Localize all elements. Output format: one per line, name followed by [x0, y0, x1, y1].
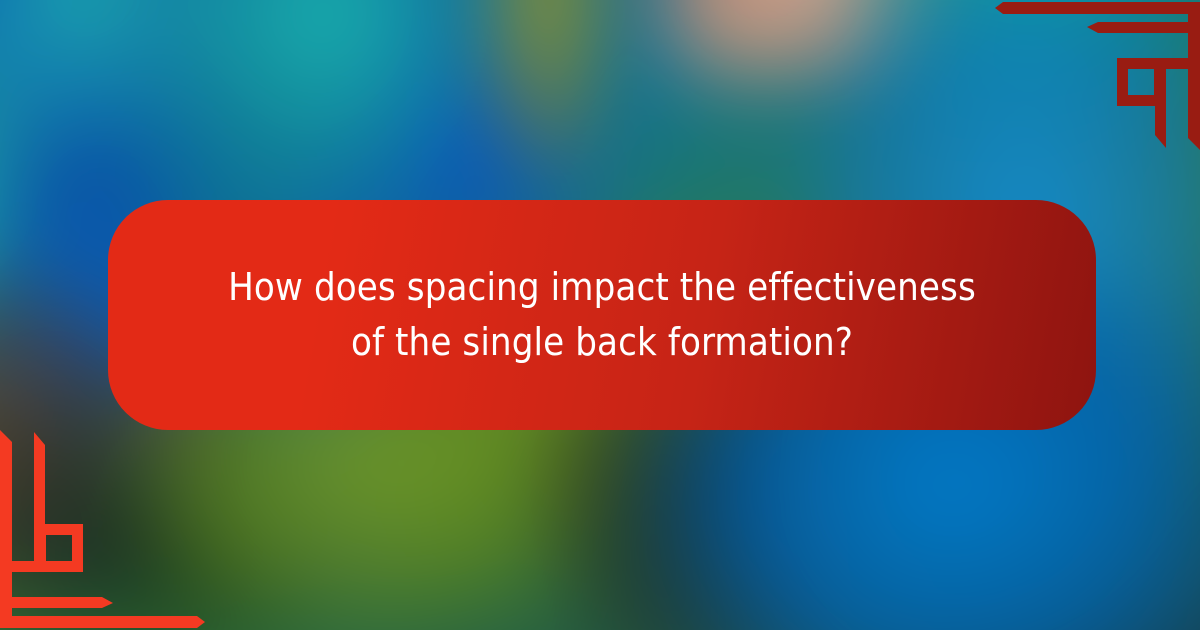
screenshot-canvas: How does spacing impact the effectivenes… — [0, 0, 1200, 630]
question-text: How does spacing impact the effectivenes… — [228, 260, 976, 370]
question-card: How does spacing impact the effectivenes… — [108, 200, 1096, 430]
